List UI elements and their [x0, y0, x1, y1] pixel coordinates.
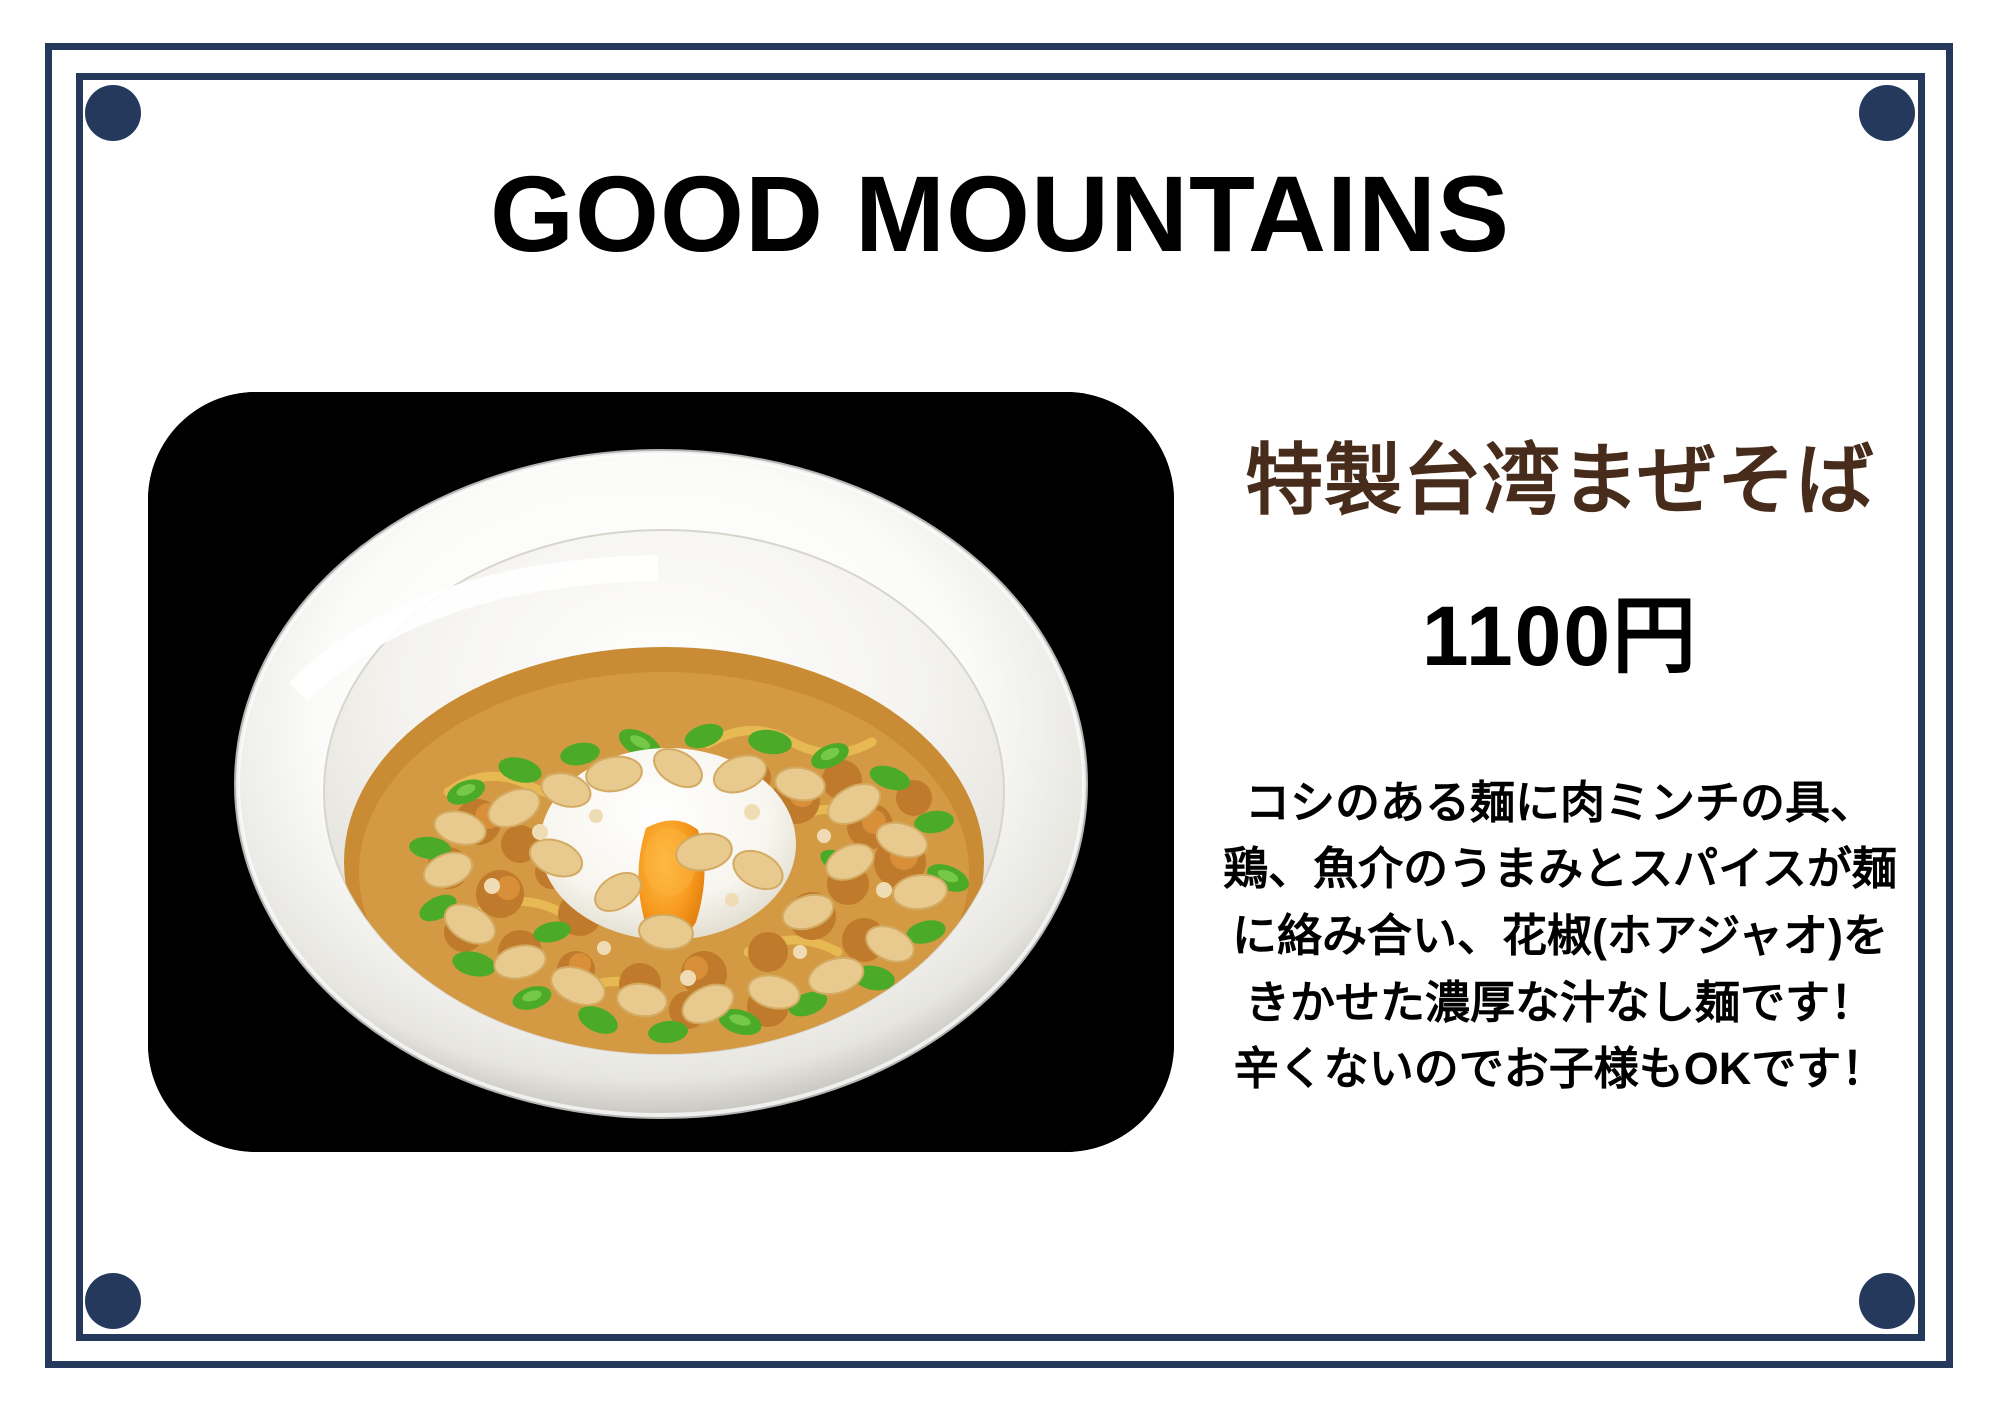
dish-photo-illustration — [148, 392, 1174, 1152]
corner-dot-bottom-right — [1859, 1273, 1915, 1329]
shop-title: GOOD MOUNTAINS — [0, 160, 2000, 268]
menu-poster: GOOD MOUNTAINS — [0, 0, 2000, 1414]
description-line-1: コシのある麺に肉ミンチの具、 — [1190, 770, 1930, 837]
dish-description: コシのある麺に肉ミンチの具、 鶏、魚介のうまみとスパイスが麺 に絡み合い、花椒(… — [1190, 770, 1930, 1103]
description-line-2: 鶏、魚介のうまみとスパイスが麺 — [1190, 836, 1930, 903]
dish-name: 特製台湾まぜそば — [1190, 440, 1930, 522]
corner-dot-bottom-left — [85, 1273, 141, 1329]
description-line-5: 辛くないのでお子様もOKです！ — [1190, 1036, 1930, 1103]
corner-dot-top-left — [85, 85, 141, 141]
corner-dot-top-right — [1859, 85, 1915, 141]
dish-photo — [148, 392, 1174, 1152]
description-line-4: きかせた濃厚な汁なし麺です！ — [1190, 970, 1930, 1037]
dish-price: 1100円 — [1190, 594, 1930, 678]
menu-detail-column: 特製台湾まぜそば 1100円 コシのある麺に肉ミンチの具、 鶏、魚介のうまみとス… — [1190, 440, 1930, 1103]
description-line-3: に絡み合い、花椒(ホアジャオ)を — [1190, 903, 1930, 970]
